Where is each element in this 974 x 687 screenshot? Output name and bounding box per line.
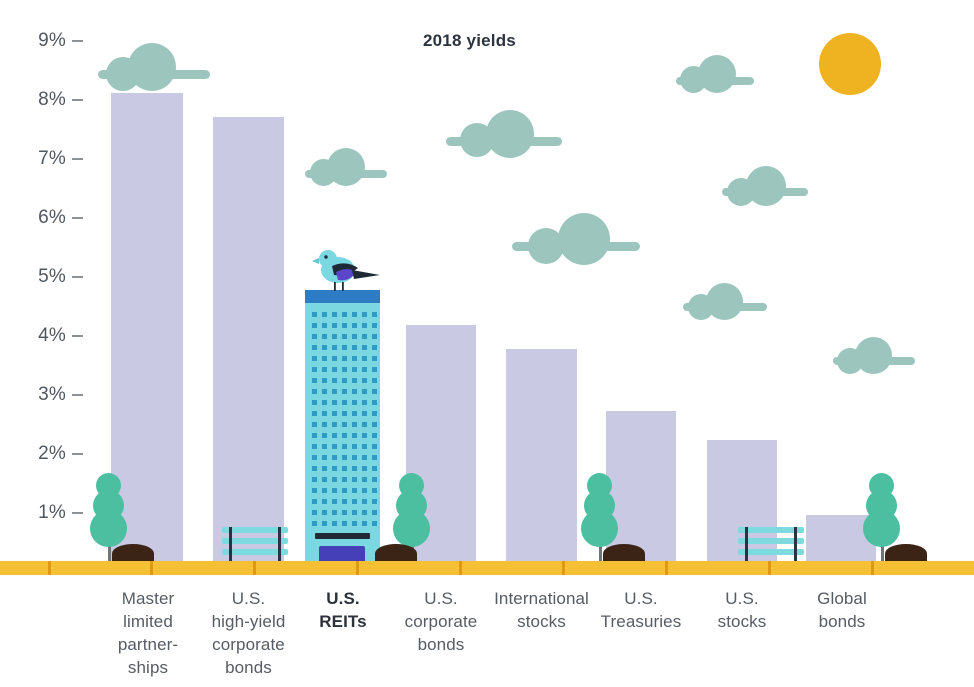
x-label-line: Master (106, 587, 190, 610)
reit-building-window (332, 455, 337, 460)
reit-building-window (342, 455, 347, 460)
reit-building-window (322, 367, 327, 372)
reit-building-window (342, 312, 347, 317)
reit-building-window (362, 444, 367, 449)
reit-building-window (332, 433, 337, 438)
x-label-international-stocks[interactable]: International stocks (480, 587, 603, 633)
reit-building-window (352, 433, 357, 438)
bench-icon (738, 527, 804, 563)
reit-building-window (322, 510, 327, 515)
reit-building-window (312, 444, 317, 449)
x-label-line: limited (106, 610, 190, 633)
reit-building-window (362, 389, 367, 394)
reit-building-window (362, 466, 367, 471)
x-label-us-corporate-bonds[interactable]: U.S. corporate bonds (396, 587, 486, 656)
reit-building-window (352, 312, 357, 317)
reit-building-window (352, 323, 357, 328)
y-tick-label: 6% (18, 207, 66, 229)
reit-building-window (342, 521, 347, 526)
y-tick-mark (72, 335, 83, 337)
reit-building-window (362, 378, 367, 383)
reit-building-window (332, 345, 337, 350)
reit-building-window (362, 411, 367, 416)
x-label-line: U.S. (302, 587, 384, 610)
bar-international-stocks[interactable] (506, 349, 577, 571)
reit-building-window (362, 356, 367, 361)
reit-building-window (322, 477, 327, 482)
reit-building-window (332, 477, 337, 482)
reit-building-window (312, 422, 317, 427)
reit-building-window (352, 455, 357, 460)
reit-building-window (342, 499, 347, 504)
reit-building-window (312, 466, 317, 471)
reit-building-window (352, 356, 357, 361)
reit-building-window (372, 312, 377, 317)
x-label-us-stocks[interactable]: U.S. stocks (699, 587, 785, 633)
reit-building-window (372, 466, 377, 471)
reit-building-body (305, 290, 380, 571)
reit-building-window (352, 345, 357, 350)
reit-building-window (332, 378, 337, 383)
x-label-us-treasuries[interactable]: U.S. Treasuries (587, 587, 695, 633)
reit-building-window (372, 488, 377, 493)
reit-building-window (322, 356, 327, 361)
reit-building-window (322, 499, 327, 504)
reit-building-window (362, 334, 367, 339)
reit-building-window (322, 334, 327, 339)
reit-building-window (322, 323, 327, 328)
reit-building-window (342, 466, 347, 471)
y-tick-mark (72, 512, 83, 514)
reit-building-window (352, 444, 357, 449)
reit-building-window (322, 488, 327, 493)
reit-building-window (372, 455, 377, 460)
reit-building-window (362, 323, 367, 328)
reit-building-window (352, 378, 357, 383)
reit-building-window (352, 411, 357, 416)
reit-building-window (322, 400, 327, 405)
x-label-line: stocks (699, 610, 785, 633)
reit-building-window (362, 521, 367, 526)
reit-building-window (342, 334, 347, 339)
reit-building-window (352, 521, 357, 526)
reit-building-window (332, 521, 337, 526)
reit-building-window (362, 400, 367, 405)
reit-building-window (372, 400, 377, 405)
reit-building-window (352, 400, 357, 405)
x-label-line: corporate (396, 610, 486, 633)
y-tick-label: 2% (18, 443, 66, 465)
reit-building-window (342, 422, 347, 427)
x-label-master-limited-partnerships[interactable]: Master limited partner- ships (106, 587, 190, 679)
x-label-line: U.S. (201, 587, 296, 610)
x-label-line: stocks (480, 610, 603, 633)
reit-building-window (322, 345, 327, 350)
reit-building-window (362, 367, 367, 372)
reit-building-window (332, 411, 337, 416)
y-tick-label: 8% (18, 89, 66, 111)
reit-building-window (352, 499, 357, 504)
reit-building-window (372, 378, 377, 383)
reit-building-window (312, 312, 317, 317)
reit-building-window (352, 510, 357, 515)
reit-building-window (332, 444, 337, 449)
reit-building-window (312, 323, 317, 328)
reit-building-ledge (315, 533, 370, 539)
reit-building-window (352, 477, 357, 482)
reit-building-window (372, 499, 377, 504)
reit-building-window (372, 422, 377, 427)
reit-building-window (332, 400, 337, 405)
x-label-line: U.S. (699, 587, 785, 610)
reit-building-window (362, 345, 367, 350)
reit-building-window (322, 521, 327, 526)
reit-building-window (312, 521, 317, 526)
reit-building-window (352, 466, 357, 471)
reit-building-window (372, 433, 377, 438)
x-label-global-bonds[interactable]: Global bonds (797, 587, 887, 633)
reit-building-window (312, 510, 317, 515)
ground-axis (0, 561, 974, 575)
reit-building-window (352, 334, 357, 339)
reit-building-window (332, 466, 337, 471)
reit-building-window (312, 400, 317, 405)
y-tick-label: 4% (18, 325, 66, 347)
reit-building-window (312, 455, 317, 460)
reit-building-window (312, 345, 317, 350)
reit-building-window (362, 433, 367, 438)
y-tick-mark (72, 217, 83, 219)
x-label-line: Treasuries (587, 610, 695, 633)
reit-building-window (312, 488, 317, 493)
y-tick-label: 3% (18, 384, 66, 406)
reit-building-window (332, 499, 337, 504)
x-label-line: partner- (106, 633, 190, 656)
reit-building-window (362, 477, 367, 482)
reit-building-window (372, 334, 377, 339)
x-label-line: bonds (201, 656, 296, 679)
reit-building-window (372, 389, 377, 394)
reit-building-window (342, 378, 347, 383)
reit-building-window (362, 488, 367, 493)
x-label-line: bonds (396, 633, 486, 656)
reit-building-window (312, 411, 317, 416)
x-label-us-high-yield-corporate-bonds[interactable]: U.S. high-yield corporate bonds (201, 587, 296, 679)
reit-building-window (332, 367, 337, 372)
reit-building-window (312, 389, 317, 394)
reit-building-window (332, 510, 337, 515)
bench-icon (222, 527, 288, 563)
reit-building-window (312, 334, 317, 339)
reit-building-window (342, 477, 347, 482)
y-tick-mark (72, 158, 83, 160)
reit-building-window (332, 422, 337, 427)
reit-building-window (322, 422, 327, 427)
bar-us-reits[interactable] (305, 290, 380, 571)
reit-building-window (362, 422, 367, 427)
x-label-line: Global (797, 587, 887, 610)
reit-building-window (352, 422, 357, 427)
bar-us-high-yield-corporate-bonds[interactable] (213, 117, 284, 571)
y-tick-label: 7% (18, 148, 66, 170)
y-tick-mark (72, 453, 83, 455)
reit-building-window (342, 323, 347, 328)
x-axis-labels: Master limited partner- ships U.S. high-… (0, 578, 974, 687)
x-label-line: U.S. (396, 587, 486, 610)
reit-building-window (372, 477, 377, 482)
x-label-line: corporate (201, 633, 296, 656)
reit-building-window (352, 488, 357, 493)
y-tick-label: 1% (18, 502, 66, 524)
reit-building-window (342, 367, 347, 372)
reit-building-window (362, 510, 367, 515)
reit-building-window (332, 312, 337, 317)
y-tick-mark (72, 276, 83, 278)
reit-building-window (372, 521, 377, 526)
reit-building-window (312, 378, 317, 383)
reit-building-window (332, 323, 337, 328)
reit-building-window (312, 477, 317, 482)
reit-building-window (322, 312, 327, 317)
y-tick-label: 5% (18, 266, 66, 288)
y-tick-mark (72, 394, 83, 396)
reit-building-window (322, 389, 327, 394)
y-tick-mark (72, 99, 83, 101)
plot-area: 9% 8% 7% 6% 5% 4% 3% 2% 1% (0, 0, 974, 575)
reit-building-window (312, 499, 317, 504)
reit-building-window (342, 389, 347, 394)
reit-building-window (372, 323, 377, 328)
reit-building-window (372, 345, 377, 350)
reit-building-window (362, 499, 367, 504)
reit-building-window (372, 411, 377, 416)
reit-building-window (322, 455, 327, 460)
reit-building-window (312, 356, 317, 361)
reit-building-window (352, 389, 357, 394)
reit-building-window (342, 510, 347, 515)
x-label-line: high-yield (201, 610, 296, 633)
reit-building-window (332, 334, 337, 339)
reit-building-windows (305, 290, 380, 571)
reit-building-window (322, 411, 327, 416)
pigeon-icon (312, 246, 384, 292)
x-label-line: International (480, 587, 603, 610)
reit-building-window (372, 367, 377, 372)
x-label-line: ships (106, 656, 190, 679)
reit-building-window (322, 444, 327, 449)
y-tick-mark (72, 40, 83, 42)
y-tick-label: 9% (18, 30, 66, 52)
reit-building-window (322, 378, 327, 383)
reit-building-window (342, 411, 347, 416)
reit-building-window (342, 356, 347, 361)
reit-building-window (372, 444, 377, 449)
x-label-line: U.S. (587, 587, 695, 610)
reit-building-window (372, 356, 377, 361)
reit-building-window (342, 400, 347, 405)
reit-building-window (322, 433, 327, 438)
reit-building-window (342, 345, 347, 350)
yield-bar-chart: 2018 yields 9% 8% 7% 6% 5% 4% 3% 2% 1% (0, 0, 974, 687)
x-label-us-reits[interactable]: U.S. REITs (302, 587, 384, 633)
reit-building-window (332, 389, 337, 394)
reit-building-window (312, 433, 317, 438)
reit-building-window (342, 488, 347, 493)
reit-building-window (312, 367, 317, 372)
reit-building-window (332, 356, 337, 361)
x-label-line: REITs (302, 610, 384, 633)
reit-building-window (372, 510, 377, 515)
reit-building-window (362, 455, 367, 460)
reit-building-window (362, 312, 367, 317)
reit-building-window (332, 488, 337, 493)
reit-building-window (322, 466, 327, 471)
reit-building-window (342, 433, 347, 438)
reit-building-window (352, 367, 357, 372)
x-label-line: bonds (797, 610, 887, 633)
reit-building-window (342, 444, 347, 449)
